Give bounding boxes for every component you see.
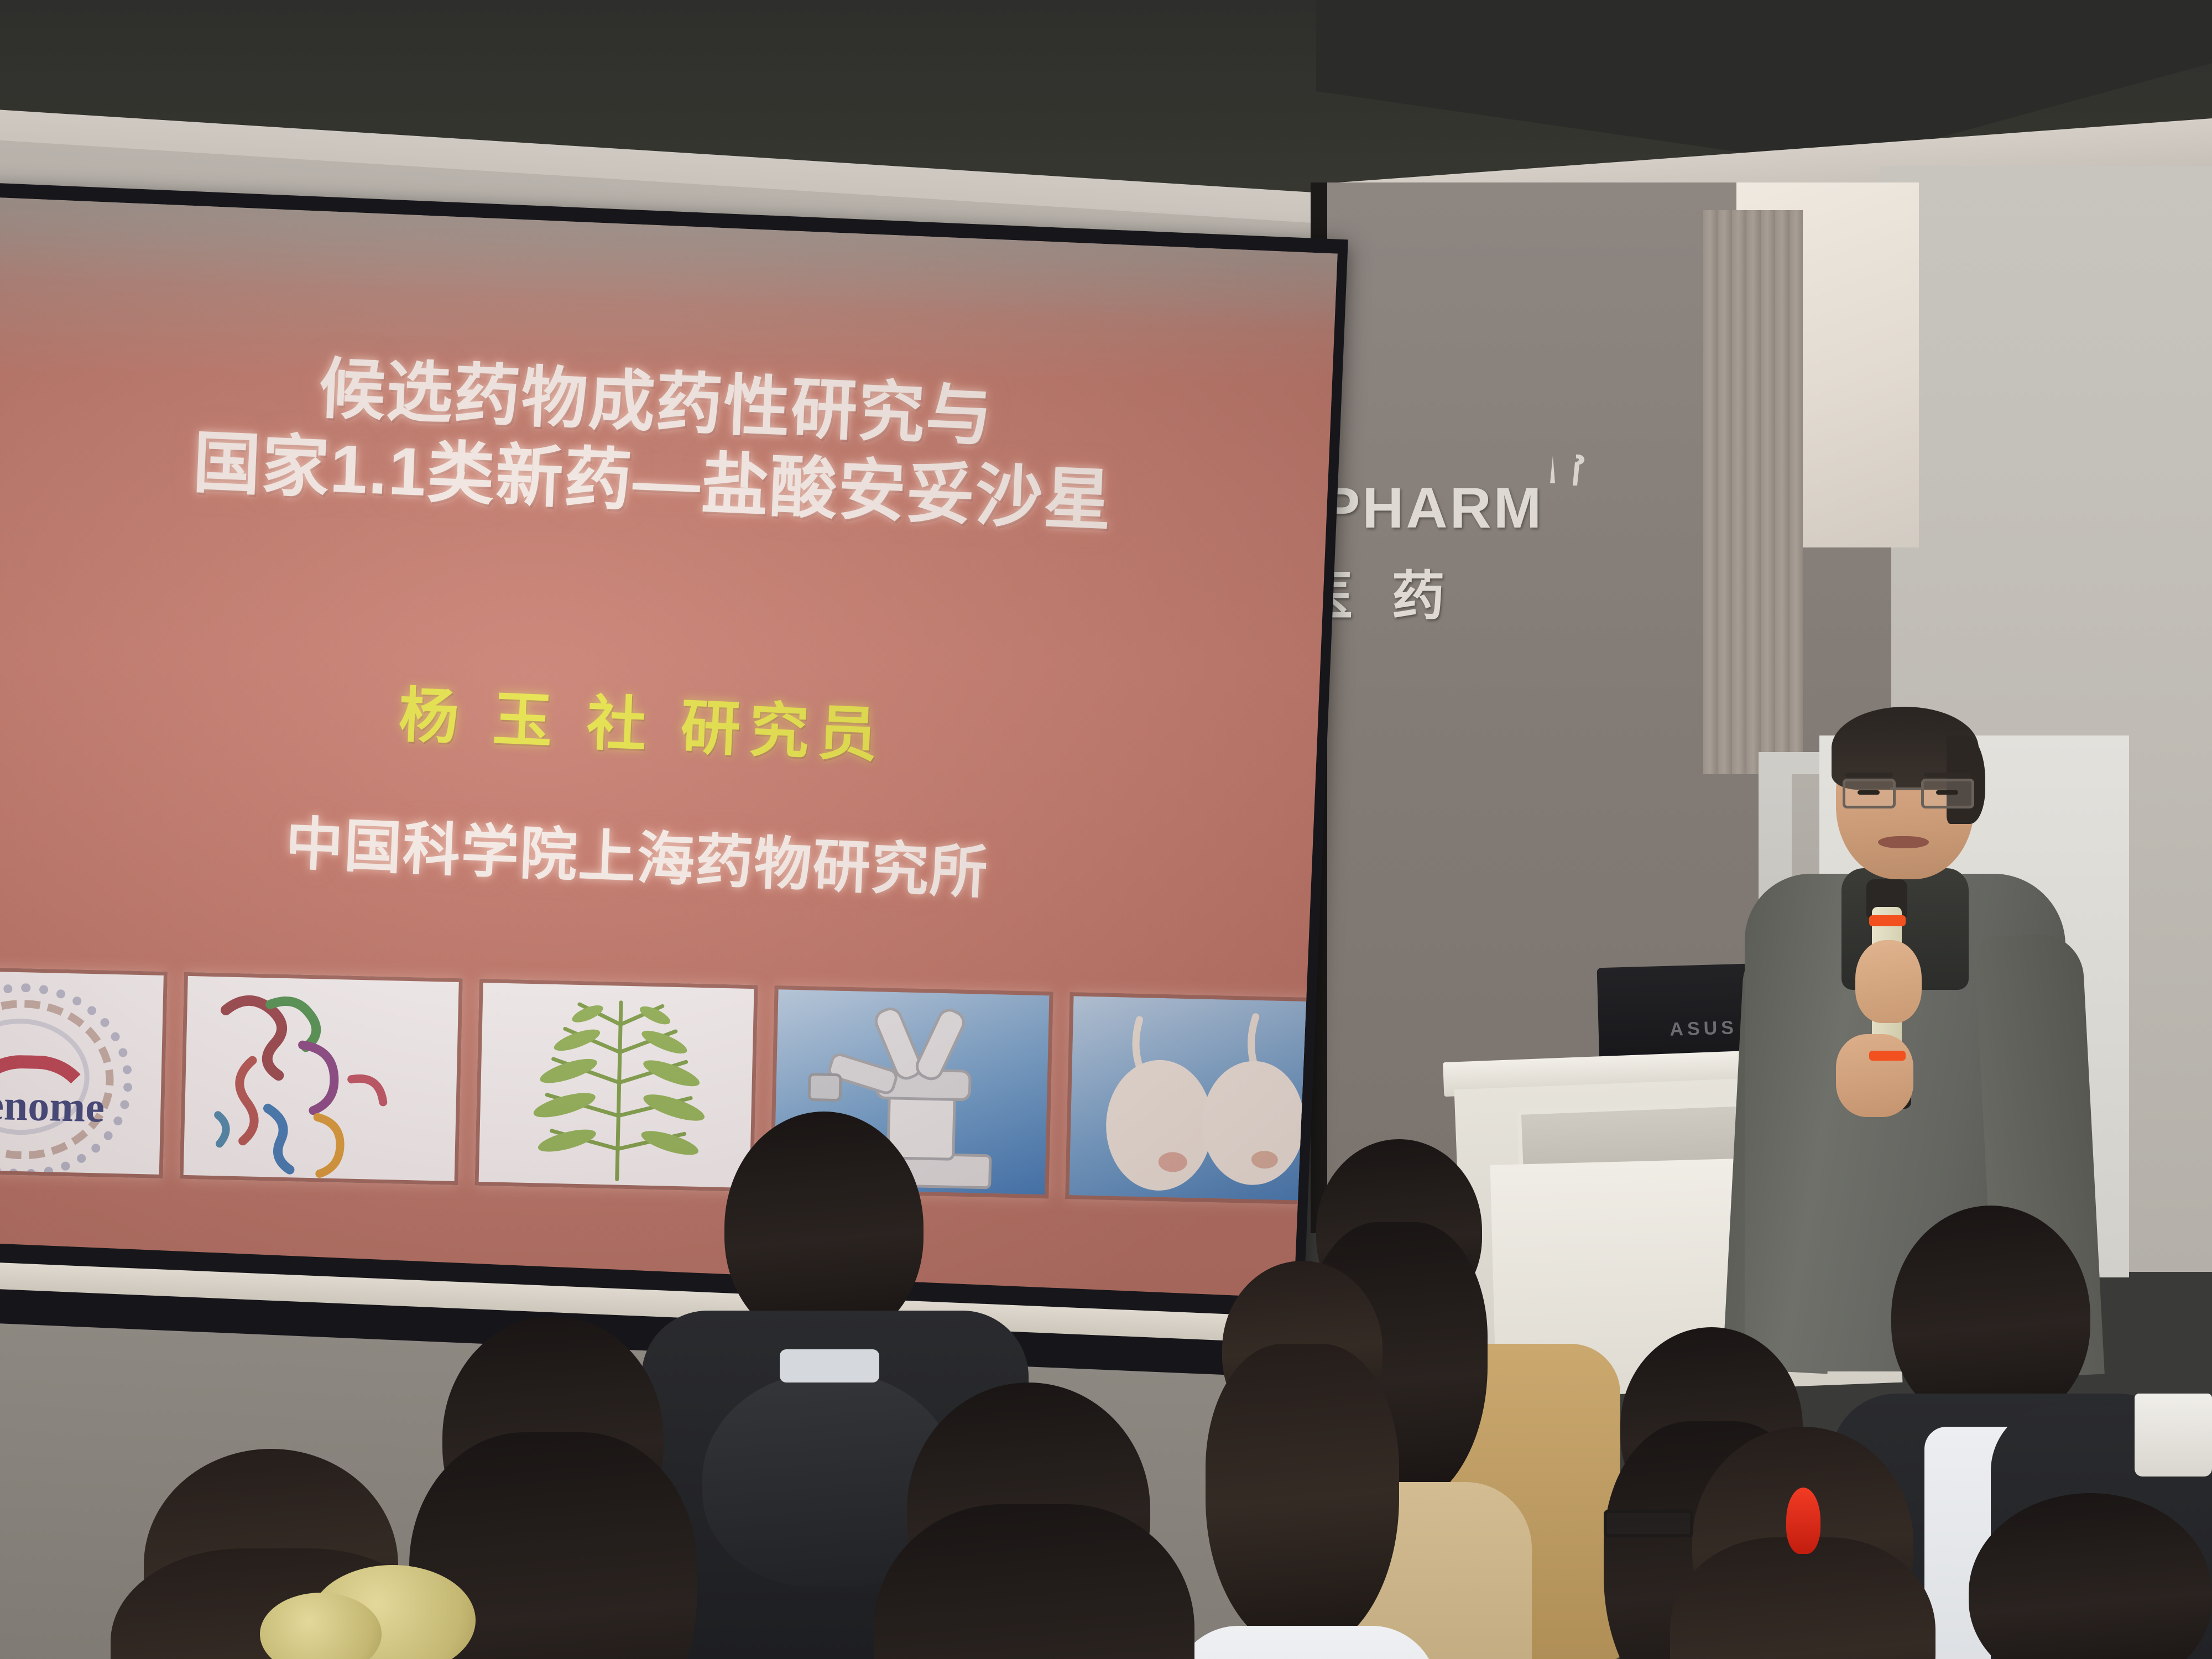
- curtain: [1703, 210, 1803, 774]
- microphone-accent-ring-top: [1869, 915, 1906, 926]
- plant-svg: [479, 983, 754, 1188]
- speaker-hand-holding-mic: [1855, 940, 1922, 1023]
- speaker-mouth: [1878, 836, 1929, 848]
- projection-screen: 候选药物成药性研究与 国家1.1类新药—盐酸安妥沙星 杨 玉 社 研究员 中国科…: [0, 182, 1365, 1401]
- screen-frame: 候选药物成药性研究与 国家1.1类新药—盐酸安妥沙星 杨 玉 社 研究员 中国科…: [0, 182, 1348, 1317]
- mice-svg: [1069, 996, 1337, 1201]
- lab-mice-thumbnail: [1065, 992, 1338, 1205]
- lecture-hall-scene: PHARM 医 药 候选药物成药性研究与 国家1.1类新药—盐酸安妥沙星 杨 玉…: [0, 0, 2212, 1659]
- red-hair-clip: [1786, 1488, 1820, 1554]
- slide-thumbnail-strip: Genome: [0, 966, 1338, 1209]
- slide-surface: 候选药物成药性研究与 国家1.1类新药—盐酸安妥沙星 杨 玉 社 研究员 中国科…: [0, 197, 1338, 1298]
- paper-cup[interactable]: [2135, 1394, 2212, 1477]
- speaker-second-hand: [1836, 1034, 1913, 1117]
- pharm-logo-mark: [1533, 451, 1599, 501]
- protein-ribbon-svg: [184, 976, 459, 1181]
- microphone-accent-ring-bottom: [1869, 1051, 1906, 1061]
- genome-label: Genome: [0, 1078, 133, 1133]
- wall-sign-english: PHARM: [1322, 476, 1543, 541]
- protein-ribbon-thumbnail: [180, 972, 463, 1185]
- slide-organization: 中国科学院上海药物研究所: [0, 783, 1313, 923]
- artemisia-plant-thumbnail: [474, 979, 758, 1192]
- audience-glasses-icon: [1604, 1510, 1693, 1537]
- speaker-glasses-icon: [1841, 779, 1970, 804]
- slide-speaker-name: 杨 玉 社 研究员: [0, 649, 1319, 792]
- genome-map-thumbnail: Genome: [0, 966, 168, 1178]
